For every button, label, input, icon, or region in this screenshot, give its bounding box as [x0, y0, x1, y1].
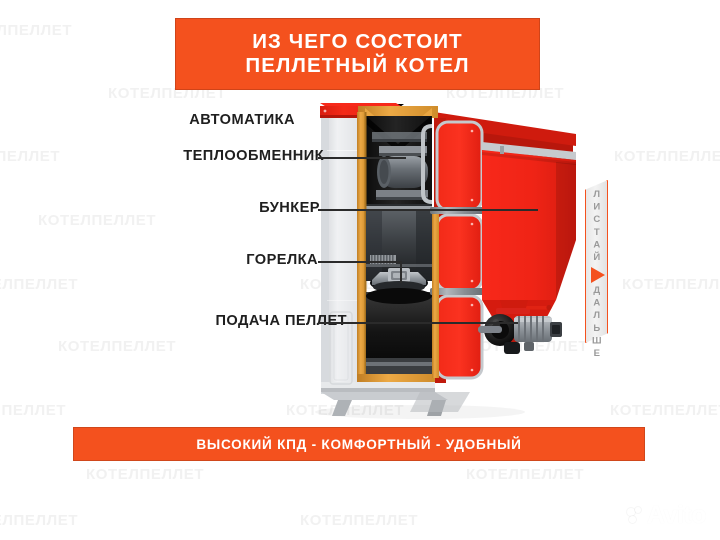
callout-label-gorelka: ГОРЕЛКА	[246, 252, 318, 268]
leader-line-teploobmennik	[318, 157, 406, 159]
callout-label-teploobmennik: ТЕПЛООБМЕННИК	[183, 148, 324, 164]
footer-banner: ВЫСОКИЙ КПД - КОМФОРТНЫЙ - УДОБНЫЙ	[73, 427, 645, 461]
title-banner: ИЗ ЧЕГО СОСТОИТ ПЕЛЛЕТНЫЙ КОТЕЛ	[175, 18, 540, 90]
ribbon-content: ЛИСТАЙ ДАЛЬШЕ	[585, 180, 608, 343]
boiler-front-doors	[423, 122, 486, 378]
ribbon-word-bottom: ДАЛЬШЕ	[592, 285, 602, 361]
title-line-1: ИЗ ЧЕГО СОСТОИТ	[245, 30, 469, 54]
callout-label-bunker: БУНКЕР	[259, 200, 320, 216]
play-triangle-icon	[591, 267, 605, 283]
callout-label-podacha-pellet: ПОДАЧА ПЕЛЛЕТ	[215, 313, 347, 329]
callout-label-automatika: АВТОМАТИКА	[189, 112, 295, 128]
title-line-2: ПЕЛЛЕТНЫЙ КОТЕЛ	[245, 54, 469, 78]
promo-slide: КОТЕЛПЕЛЛЕТ КОТЕЛПЕЛЛЕТ КОТЕЛПЕЛЛЕТ КОТЕ…	[0, 0, 720, 540]
leader-line-gorelka	[318, 261, 402, 263]
ash-chamber	[366, 288, 432, 374]
leader-line-bunker	[318, 209, 538, 211]
swipe-next-ribbon[interactable]: ЛИСТАЙ ДАЛЬШЕ	[585, 180, 608, 343]
leader-line-gorelka-drop	[400, 261, 402, 283]
ribbon-word-top: ЛИСТАЙ	[592, 189, 602, 265]
title-text: ИЗ ЧЕГО СОСТОИТ ПЕЛЛЕТНЫЙ КОТЕЛ	[245, 30, 469, 78]
footer-text: ВЫСОКИЙ КПД - КОМФОРТНЫЙ - УДОБНЫЙ	[196, 437, 521, 452]
leader-line-podacha-pellet	[318, 322, 518, 324]
